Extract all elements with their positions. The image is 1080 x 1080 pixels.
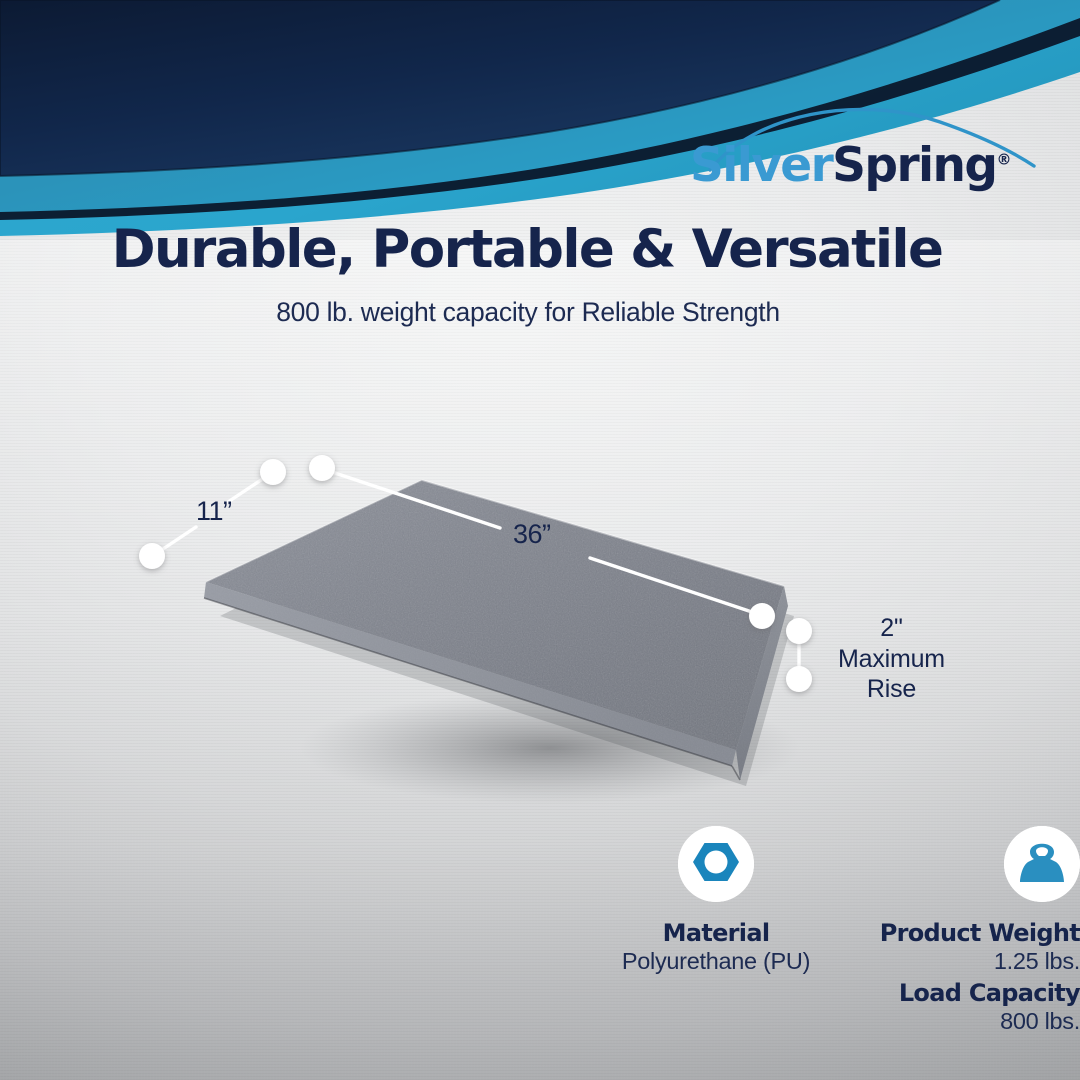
rise-line-2: Maximum bbox=[838, 644, 945, 675]
brand-logo: SilverSpring® bbox=[690, 134, 1020, 204]
product-ramp-image bbox=[120, 430, 880, 850]
rise-line-1: 2" bbox=[838, 613, 945, 644]
weight-kettlebell-icon bbox=[1004, 826, 1080, 902]
spec-weight: Product Weight 1.25 lbs. Load Capacity 8… bbox=[858, 826, 1080, 1036]
hex-nut-icon bbox=[678, 826, 754, 902]
specs-section: Material Polyurethane (PU) Product Weigh… bbox=[600, 826, 1080, 1080]
dimension-label-width: 11” bbox=[196, 495, 232, 528]
logo-wordmark: SilverSpring® bbox=[690, 142, 1011, 189]
spec-product-weight-title: Product Weight bbox=[858, 919, 1080, 947]
infographic-canvas: SilverSpring® Durable, Portable & Versat… bbox=[0, 0, 1080, 1080]
spec-material-title: Material bbox=[600, 919, 832, 947]
dimension-label-rise: 2" Maximum Rise bbox=[838, 613, 945, 705]
page-subtitle: 800 lb. weight capacity for Reliable Str… bbox=[0, 297, 1080, 328]
header-wave-graphic bbox=[0, 0, 1080, 240]
spec-load-capacity-title: Load Capacity bbox=[858, 979, 1080, 1007]
spec-material-value: Polyurethane (PU) bbox=[600, 947, 832, 976]
page-title: Durable, Portable & Versatile bbox=[0, 222, 1080, 278]
dimension-label-length: 36” bbox=[513, 518, 551, 551]
logo-spring-text: Spring bbox=[832, 138, 996, 193]
registered-mark-icon: ® bbox=[996, 150, 1011, 168]
spec-product-weight-value: 1.25 lbs. bbox=[858, 947, 1080, 976]
spec-material: Material Polyurethane (PU) bbox=[600, 826, 832, 977]
logo-silver-text: Silver bbox=[690, 138, 832, 193]
spec-load-capacity-value: 800 lbs. bbox=[858, 1007, 1080, 1036]
rise-line-3: Rise bbox=[838, 674, 945, 705]
